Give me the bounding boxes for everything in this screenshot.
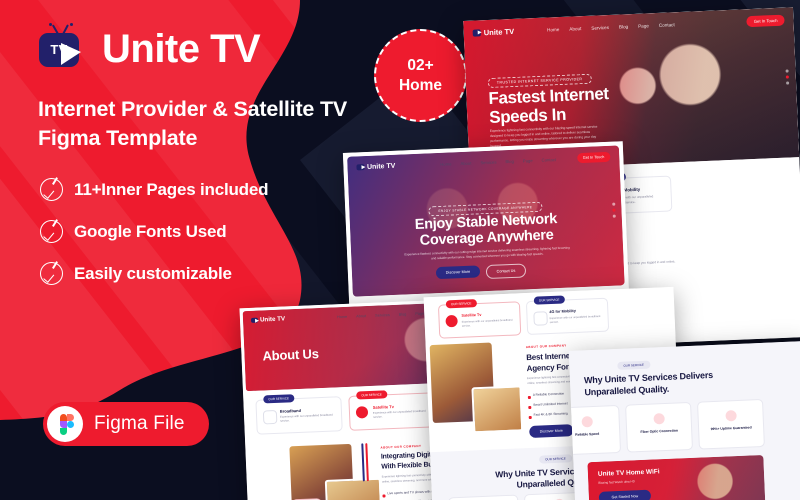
- card-title: Satellite Tv: [373, 404, 394, 410]
- nav-item[interactable]: Page: [415, 311, 424, 315]
- mockup-brand: Unite TV: [484, 26, 515, 36]
- nav-item[interactable]: Services: [480, 159, 496, 165]
- card-desc: Experience with our unparalleled broadba…: [462, 319, 514, 329]
- satellite-icon: [445, 315, 457, 327]
- why-eyebrow: OUR SERVICE: [539, 454, 572, 463]
- why-card-title: Reliable Speed: [569, 431, 620, 439]
- tagline: Internet Provider & Satellite TV Figma T…: [38, 95, 368, 152]
- satellite-icon: [356, 406, 368, 418]
- why-card-title: 99%+ Uptime Guaranteed: [703, 425, 759, 432]
- feature-label: Google Fonts Used: [74, 222, 226, 242]
- why-title-line1: Why Unite TV Services Delivers: [584, 370, 713, 385]
- promo-banner[interactable]: Unite TV Home WiFi Blazing fast Watch ul…: [587, 455, 765, 500]
- service-card[interactable]: OUR SERVICE Satellite Tv Experience with…: [348, 392, 435, 431]
- service-card[interactable]: OUR SERVICE Broadband Experience with ou…: [255, 396, 342, 435]
- mockup-why-page[interactable]: OUR SERVICE Why Unite TV Services Delive…: [569, 341, 800, 500]
- card-title: Broadband: [280, 408, 301, 414]
- get-in-touch-button[interactable]: Get In Touch: [747, 14, 785, 27]
- nav-item[interactable]: Blog: [505, 158, 514, 163]
- agency-bullet: Fast 4K & 8K Streaming: [534, 411, 568, 416]
- feature-list: 11+Inner Pages included Google Fonts Use…: [40, 178, 268, 304]
- uptime-icon: [725, 410, 736, 421]
- card-title: Satellite Tv: [461, 313, 481, 318]
- nav-item[interactable]: Page: [523, 158, 533, 163]
- slider-dots[interactable]: [612, 203, 616, 218]
- nav-item[interactable]: About: [460, 160, 471, 165]
- why-card[interactable]: Fiber Optic Connection: [625, 402, 693, 453]
- figma-file-button[interactable]: Figma File: [43, 402, 209, 446]
- home-count-badge: 02+ Home: [374, 29, 467, 122]
- nav-item[interactable]: Page: [638, 23, 649, 28]
- poster-canvas: TV Unite TV Internet Provider & Satellit…: [0, 0, 800, 500]
- get-started-button[interactable]: Get Started Now: [599, 490, 651, 500]
- nav-item[interactable]: About: [356, 314, 366, 318]
- card-tag: OUR SERVICE: [446, 299, 477, 308]
- agency-eyebrow: ABOUT OUR COMPANY: [526, 343, 567, 349]
- feature-label: 11+Inner Pages included: [74, 180, 268, 200]
- brand-header: TV Unite TV: [37, 23, 260, 75]
- badge-label: Home: [399, 76, 442, 95]
- agency-photo-secondary: [471, 385, 523, 433]
- speed-icon: [582, 416, 593, 427]
- tv-logo-icon: TV: [37, 23, 89, 75]
- circle-check-icon: [40, 220, 63, 243]
- agency-bullet: A Reliable Connection: [533, 392, 565, 397]
- nav-item[interactable]: Contact: [541, 157, 556, 163]
- card-desc: Experience with our unparalleled broadba…: [373, 410, 427, 420]
- discover-more-button[interactable]: Discover More: [529, 424, 573, 438]
- discover-more-button[interactable]: Discover More: [436, 265, 480, 279]
- agency-bullet: Smart Unlimited Internet: [533, 401, 568, 406]
- figma-file-label: Figma File: [94, 413, 185, 435]
- get-in-touch-button[interactable]: Get In Touch: [577, 152, 611, 163]
- service-card[interactable]: OUR SERVICE 4G for Mobility Experience w…: [526, 298, 609, 335]
- broadband-icon: [263, 410, 278, 425]
- about-eyebrow: ABOUT OUR COMPANY: [380, 444, 421, 450]
- fiber-icon: [653, 413, 664, 424]
- feature-item: Google Fonts Used: [40, 220, 268, 243]
- circle-check-icon: [40, 178, 63, 201]
- nav-item[interactable]: Home: [337, 314, 347, 318]
- card-title: 4G for Mobility: [549, 309, 576, 314]
- circle-check-icon: [40, 262, 63, 285]
- slider-dots[interactable]: [786, 69, 790, 84]
- figma-icon: [47, 406, 83, 442]
- card-tag: OUR SERVICE: [534, 295, 565, 304]
- why-eyebrow: OUR SERVICE: [617, 361, 650, 370]
- nav-item[interactable]: Contact: [659, 22, 675, 28]
- card-desc: Experience with our unparalleled broadba…: [550, 315, 602, 325]
- nav-item[interactable]: Home: [547, 27, 559, 33]
- why-title-line2: Unparalleled Quality.: [584, 384, 669, 398]
- nav-item[interactable]: About: [569, 26, 581, 31]
- contact-us-button[interactable]: Contact Us: [486, 263, 527, 279]
- nav-item[interactable]: Blog: [619, 24, 628, 29]
- mockup-brand: Unite TV: [367, 162, 396, 170]
- about-photo-secondary: [325, 478, 383, 500]
- service-card[interactable]: OUR SERVICE Satellite Tv Experience with…: [438, 301, 521, 338]
- logo-text: TV: [45, 40, 73, 59]
- why-card[interactable]: 99%+ Uptime Guaranteed: [697, 399, 765, 450]
- nav-item[interactable]: Services: [591, 24, 609, 30]
- card-desc: Experience with our unparalleled broadba…: [280, 414, 334, 424]
- card-tag: OUR SERVICE: [356, 390, 387, 399]
- feature-item: Easily customizable: [40, 262, 268, 285]
- mobility-icon: [533, 311, 548, 326]
- why-card[interactable]: Reliable Speed: [569, 405, 621, 456]
- badge-count: 02+: [407, 56, 433, 75]
- card-tag: OUR SERVICE: [263, 394, 294, 403]
- nav-item[interactable]: Services: [375, 313, 390, 318]
- nav-item[interactable]: Home: [440, 161, 451, 166]
- feature-item: 11+Inner Pages included: [40, 178, 268, 201]
- mockup-brand: Unite TV: [260, 315, 285, 323]
- feature-label: Easily customizable: [74, 264, 232, 284]
- about-hero-title: About Us: [262, 346, 319, 363]
- hero-title-line2: Speeds In: [489, 105, 566, 127]
- brand-name: Unite TV: [102, 29, 260, 69]
- nav-item[interactable]: Blog: [399, 312, 407, 316]
- why-card-title: Fiber Optic Connection: [631, 428, 687, 435]
